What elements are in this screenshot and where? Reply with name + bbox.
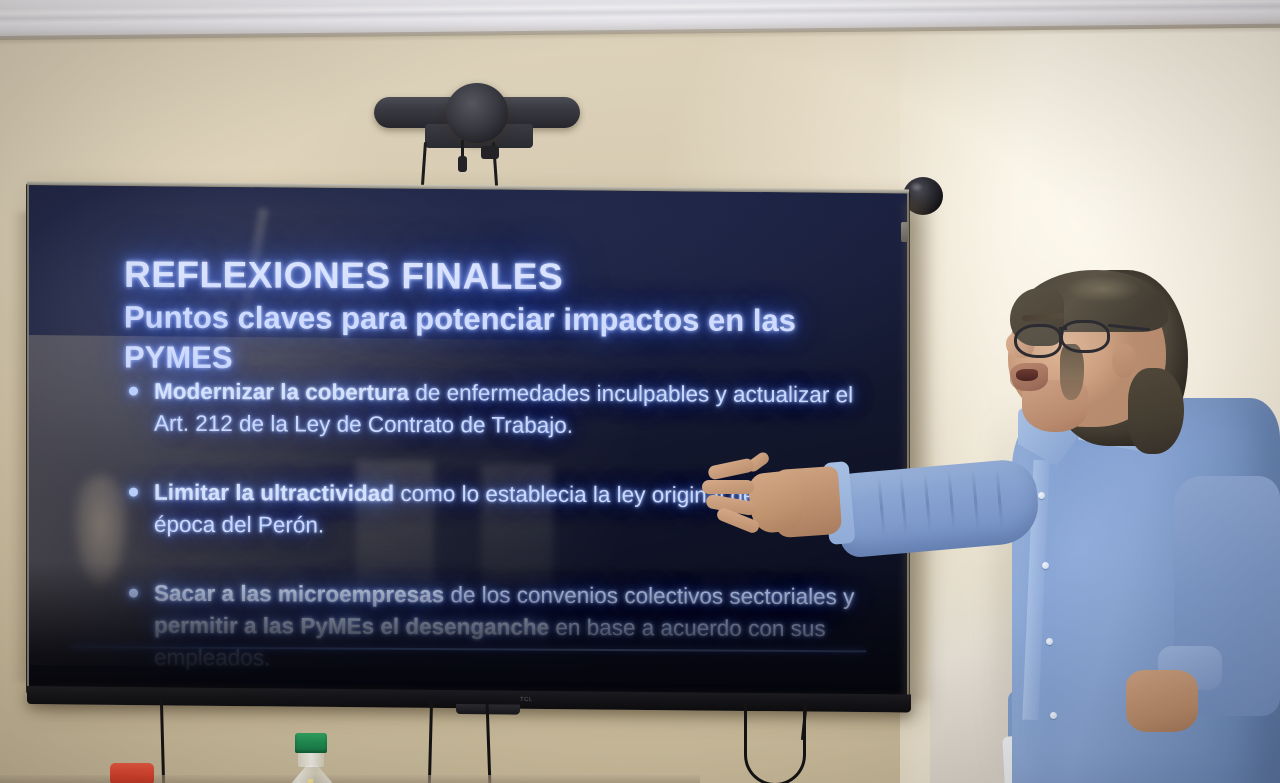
bullet-bold-lead: Modernizar la cobertura — [154, 379, 409, 405]
red-item — [110, 763, 154, 783]
presenter-hair-lock — [1128, 368, 1184, 454]
presenter-finger — [702, 480, 754, 494]
eyeglasses-bridge — [1059, 327, 1067, 330]
shirt-button — [1046, 638, 1053, 645]
presenter — [760, 270, 1280, 783]
shirt-button — [1050, 712, 1057, 719]
shirt-button — [1042, 562, 1049, 569]
eyeglasses-lens-right — [1060, 320, 1110, 353]
meeting-room-scene: REFLEXIONES FINALES Puntos claves para p… — [0, 0, 1280, 783]
shirt-button — [1038, 492, 1045, 499]
slide-subtitle: Puntos claves para potenciar impactos en… — [124, 298, 864, 381]
bottle-neck — [298, 751, 324, 767]
camera-lens-housing — [446, 83, 508, 143]
bullet-body-tail: época del Perón. — [154, 512, 324, 538]
bullet-bold-lead: Limitar la ultractividad — [154, 479, 394, 505]
cable-connector-lower — [458, 156, 467, 172]
presenter-right-hand — [1126, 670, 1198, 732]
bullet-dot-icon — [129, 387, 138, 396]
presenter-hair-highlight — [1066, 276, 1140, 302]
bullet-dot-icon — [129, 487, 138, 496]
cable-connector-upper — [481, 146, 499, 159]
bottle-label-stripe — [308, 779, 313, 783]
presenter-ear — [1112, 344, 1136, 378]
camera-lens-glint — [910, 182, 923, 192]
list-item: Modernizar la cobertura de enfermedades … — [124, 376, 864, 445]
table-surface — [0, 775, 700, 783]
water-bottle — [278, 733, 346, 783]
slide-title: REFLEXIONES FINALES — [124, 254, 563, 298]
tv-brand-logo: TCL — [520, 697, 542, 704]
bottle-cap — [295, 733, 327, 753]
eyeglasses-icon — [1014, 324, 1062, 358]
presenter-mouth — [1016, 369, 1038, 381]
